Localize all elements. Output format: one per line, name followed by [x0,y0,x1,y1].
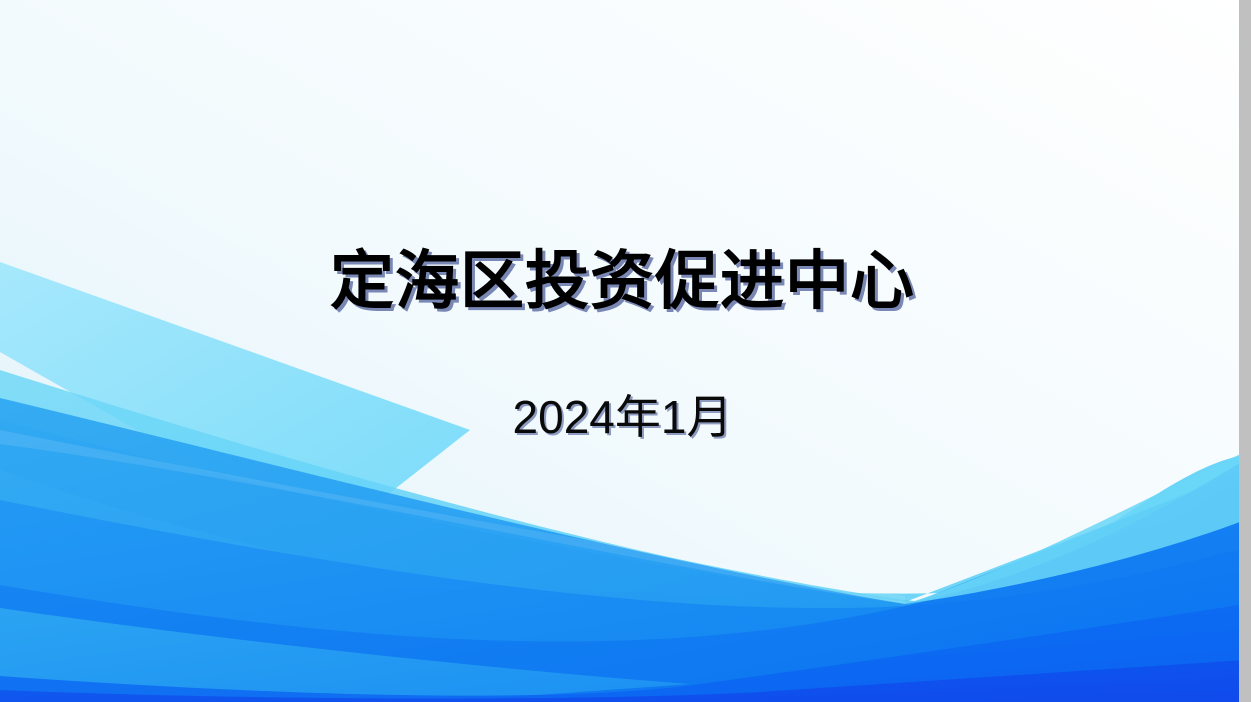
slide-subtitle: 2024年1月 [513,392,733,443]
title-block: 定海区投资促进中心 [0,248,1245,315]
page-title: 定海区投资促进中心 [330,248,915,315]
presentation-slide: 定海区投资促进中心 2024年1月 [0,0,1251,702]
subtitle-block: 2024年1月 [0,392,1245,443]
slide-right-border [1239,0,1245,702]
slide-content: 定海区投资促进中心 2024年1月 [0,0,1245,702]
